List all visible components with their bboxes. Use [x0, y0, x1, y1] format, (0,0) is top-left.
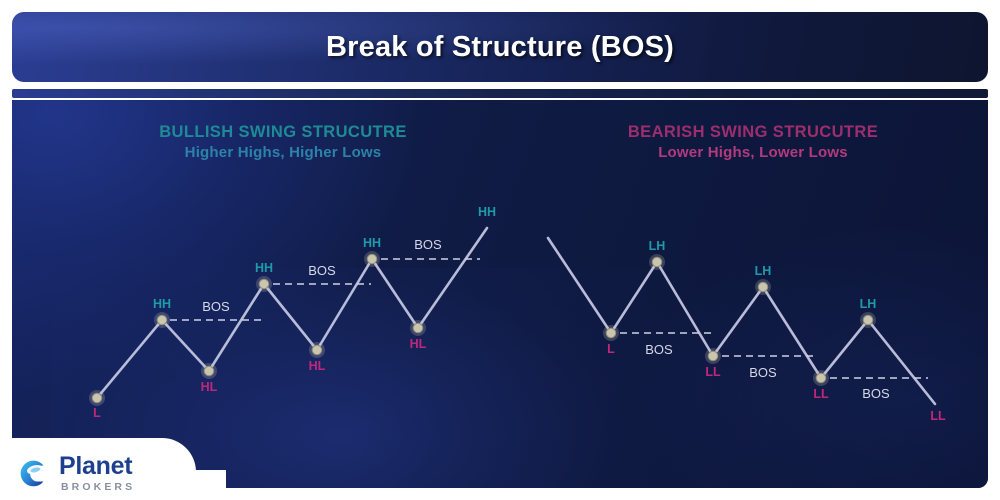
- infographic-canvas: Break of Structure (BOS) BULLISH SWING S…: [0, 0, 1000, 500]
- logo-name: Planet: [59, 454, 135, 479]
- e-circle-icon: [14, 454, 52, 492]
- title-bar: Break of Structure (BOS): [12, 12, 988, 82]
- page-title: Break of Structure (BOS): [326, 31, 674, 64]
- bearish-section-heading: BEARISH SWING STRUCUTRE Lower Highs, Low…: [583, 122, 923, 162]
- bullish-heading-line1: BULLISH SWING STRUCUTRE: [113, 122, 453, 143]
- bearish-heading-line2: Lower Highs, Lower Lows: [583, 143, 923, 162]
- logo-subtitle: BROKERS: [61, 482, 135, 493]
- brand-logo[interactable]: Planet BROKERS: [14, 454, 135, 493]
- bullish-heading-line2: Higher Highs, Higher Lows: [113, 143, 453, 162]
- header-divider: [12, 89, 988, 98]
- bearish-heading-line1: BEARISH SWING STRUCUTRE: [583, 122, 923, 143]
- logo-wordmark: Planet BROKERS: [59, 454, 135, 493]
- bullish-section-heading: BULLISH SWING STRUCUTRE Higher Highs, Hi…: [113, 122, 453, 162]
